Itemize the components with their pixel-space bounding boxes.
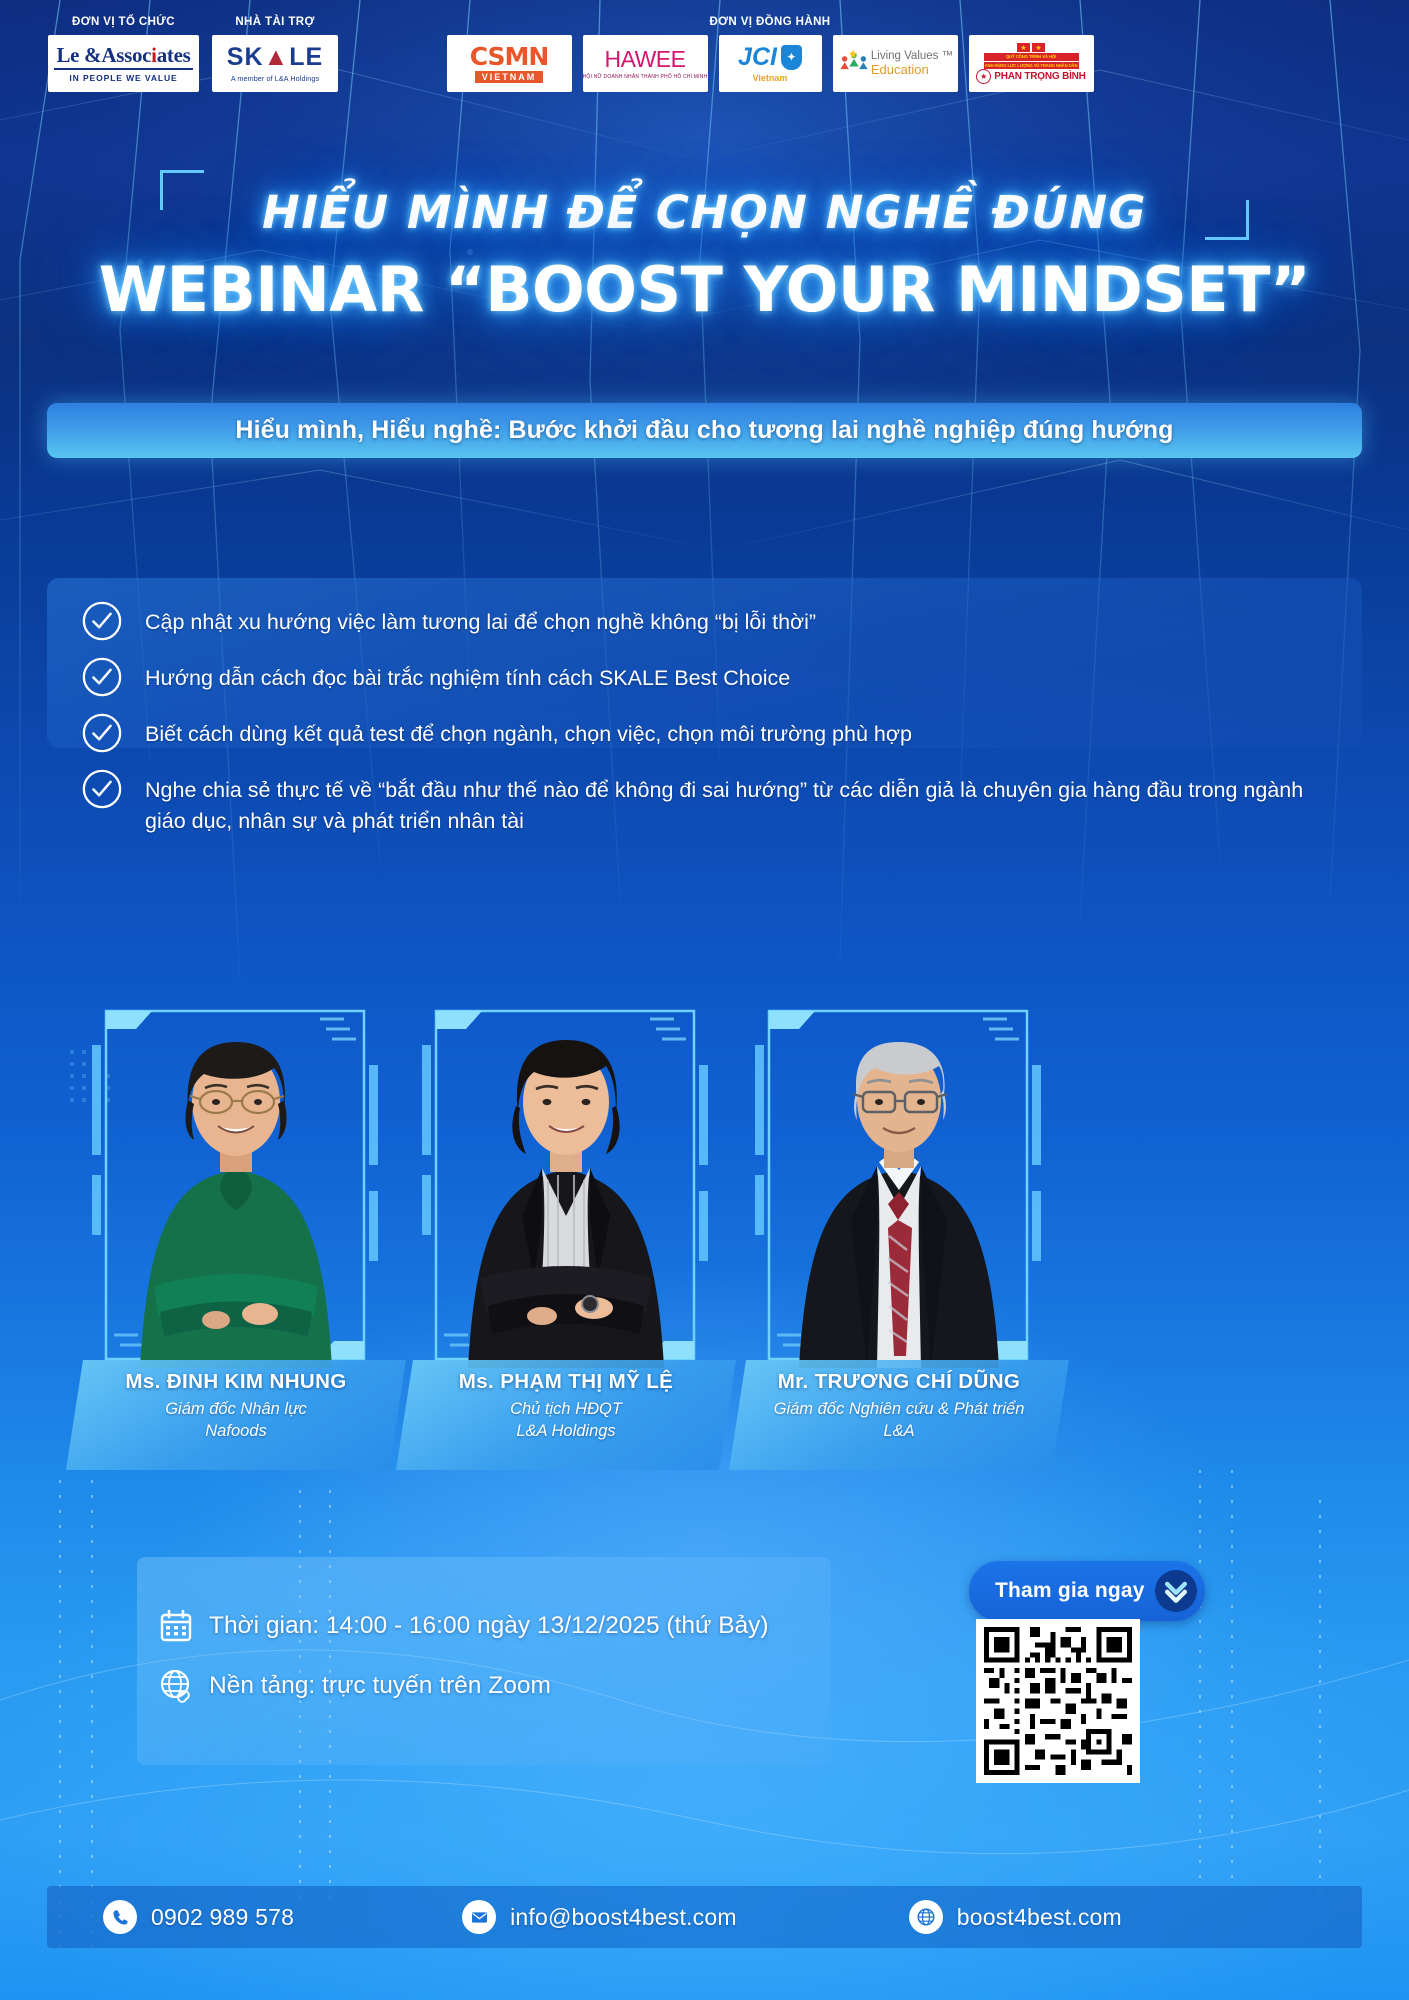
logo-csmo-sub: VIETNAM xyxy=(475,71,544,83)
logo-hawee-sub: HỘI NỮ DOANH NHÂN THÀNH PHỐ HỒ CHÍ MINH xyxy=(583,74,708,80)
speaker-card: Ms. ĐINH KIM NHUNG Giám đốc Nhân lực Naf… xyxy=(70,1005,400,1485)
phone-icon xyxy=(103,1900,137,1934)
join-now-button[interactable]: Tham gia ngay xyxy=(969,1561,1205,1621)
event-time-text: Thời gian: 14:00 - 16:00 ngày 13/12/2025… xyxy=(209,1612,769,1640)
speaker-photo xyxy=(771,1013,1027,1368)
logo-le-associates: Le &Associates IN PEOPLE WE VALUE xyxy=(48,35,199,92)
list-item: Nghe chia sẻ thực tế về “bắt đầu như thế… xyxy=(81,772,1332,836)
speaker-name: Mr. TRƯƠNG CHÍ DŨNG xyxy=(739,1370,1059,1394)
logo-group-organizer: ĐƠN VỊ TỔ CHỨC Le &Associates IN PEOPLE … xyxy=(48,16,199,92)
logo-jci-sub: Vietnam xyxy=(753,73,788,83)
subtitle-banner: Hiểu mình, Hiểu nghề: Bước khởi đầu cho … xyxy=(47,403,1362,458)
speaker-org: L&A Holdings xyxy=(406,1420,726,1442)
list-item-text: Nghe chia sẻ thực tế về “bắt đầu như thế… xyxy=(145,772,1332,836)
people-figures-icon xyxy=(837,47,871,81)
speaker-nameplate: Ms. ĐINH KIM NHUNG Giám đốc Nhân lực Naf… xyxy=(66,1360,406,1470)
corner-bracket-right-icon xyxy=(1205,200,1249,240)
logo-lve-line2: Education xyxy=(871,63,953,77)
globe-icon xyxy=(159,1669,193,1703)
event-platform-row: Nền tảng: trực tuyến trên Zoom xyxy=(159,1669,831,1703)
event-time-row: Thời gian: 14:00 - 16:00 ngày 13/12/2025… xyxy=(159,1609,831,1643)
hero-section: HIỂU MÌNH ĐỂ CHỌN NGHỀ ĐÚNG WEBINAR “BOO… xyxy=(0,158,1409,326)
contact-website[interactable]: boost4best.com xyxy=(909,1900,1122,1934)
list-item: Cập nhật xu hướng việc làm tương lai để … xyxy=(81,604,1332,642)
logo-ptb-line3: PHAN TRỌNG BÌNH xyxy=(994,71,1085,82)
speaker-org: Nafoods xyxy=(76,1420,396,1442)
logo-skale-tagline: A member of L&A Holdings xyxy=(231,74,319,83)
jci-shield-icon: ✦ xyxy=(781,45,802,70)
qr-code[interactable] xyxy=(976,1619,1140,1783)
speaker-nameplate: Ms. PHẠM THỊ MỸ LỆ Chủ tịch HĐQT L&A Hol… xyxy=(396,1360,736,1470)
logo-ptb-line1: QUỸ CÔNG TRÌNH XÃ HỘI xyxy=(984,53,1079,60)
seal-icon: ★ xyxy=(976,69,991,84)
qr-code-image xyxy=(984,1627,1132,1775)
logo-le-associates-tagline: IN PEOPLE WE VALUE xyxy=(69,73,177,83)
contact-phone[interactable]: 0902 989 578 xyxy=(103,1900,294,1934)
speaker-card: Ms. PHẠM THỊ MỸ LỆ Chủ tịch HĐQT L&A Hol… xyxy=(400,1005,730,1485)
double-chevron-down-icon xyxy=(1155,1570,1197,1612)
logo-lve-line1: Living Values ™ xyxy=(871,50,953,63)
event-info-panel: Thời gian: 14:00 - 16:00 ngày 13/12/2025… xyxy=(137,1557,831,1765)
logo-hawee-word: HAWEE xyxy=(605,48,686,71)
check-circle-icon xyxy=(81,656,123,698)
list-item: Biết cách dùng kết quả test để chọn ngàn… xyxy=(81,716,1332,754)
calendar-icon xyxy=(159,1609,193,1643)
speaker-nameplate: Mr. TRƯƠNG CHÍ DŨNG Giám đốc Nghiên cứu … xyxy=(729,1360,1069,1470)
speaker-role: Chủ tịch HĐQT xyxy=(406,1398,726,1420)
email-icon xyxy=(462,1900,496,1934)
list-item-text: Cập nhật xu hướng việc làm tương lai để … xyxy=(145,604,816,638)
logo-jci-word: JCI xyxy=(738,45,777,70)
contact-email-text: info@boost4best.com xyxy=(510,1904,737,1931)
logo-jci-vietnam: JCI ✦ Vietnam xyxy=(719,35,822,92)
partner-logo-header: ĐƠN VỊ TỔ CHỨC Le &Associates IN PEOPLE … xyxy=(0,0,1409,125)
page-title-primary: HIỂU MÌNH ĐỂ CHỌN NGHỀ ĐÚNG xyxy=(0,186,1409,239)
logo-group-caption: NHÀ TÀI TRỢ xyxy=(212,16,338,28)
highlights-panel: Cập nhật xu hướng việc làm tương lai để … xyxy=(47,578,1362,748)
speaker-role: Giám đốc Nghiên cứu & Phát triển xyxy=(739,1398,1059,1420)
speaker-name: Ms. PHẠM THỊ MỸ LỆ xyxy=(406,1370,726,1394)
logo-group-caption: ĐƠN VỊ ĐỒNG HÀNH xyxy=(420,16,1120,28)
logo-group-sponsor: NHÀ TÀI TRỢ SK▲LE A member of L&A Holdin… xyxy=(212,16,338,92)
speaker-role: Giám đốc Nhân lực xyxy=(76,1398,396,1420)
speaker-org: L&A xyxy=(739,1420,1059,1442)
speaker-photo xyxy=(108,1013,364,1368)
corner-bracket-left-icon xyxy=(160,170,204,210)
event-platform-text: Nền tảng: trực tuyến trên Zoom xyxy=(209,1672,551,1700)
contact-email[interactable]: info@boost4best.com xyxy=(462,1900,737,1934)
logo-group-companions: ĐƠN VỊ ĐỒNG HÀNH CSMN VIETNAM HAWEE HỘI … xyxy=(420,16,1120,92)
page-title-secondary: WEBINAR “BOOST YOUR MINDSET” xyxy=(0,253,1409,326)
list-item-text: Biết cách dùng kết quả test để chọn ngàn… xyxy=(145,716,912,750)
check-circle-icon xyxy=(81,600,123,642)
contact-phone-text: 0902 989 578 xyxy=(151,1904,294,1931)
contact-footer: 0902 989 578 info@boost4best.com boost4b… xyxy=(47,1886,1362,1948)
speaker-photo xyxy=(438,1013,694,1368)
logo-skale: SK▲LE A member of L&A Holdings xyxy=(212,35,338,92)
speaker-name: Ms. ĐINH KIM NHUNG xyxy=(76,1370,396,1394)
check-circle-icon xyxy=(81,768,123,810)
globe-icon xyxy=(909,1900,943,1934)
list-item: Hướng dẫn cách đọc bài trắc nghiệm tính … xyxy=(81,660,1332,698)
list-item-text: Hướng dẫn cách đọc bài trắc nghiệm tính … xyxy=(145,660,790,694)
speaker-card: Mr. TRƯƠNG CHÍ DŨNG Giám đốc Nghiên cứu … xyxy=(733,1005,1063,1485)
speakers-section: Ms. ĐINH KIM NHUNG Giám đốc Nhân lực Naf… xyxy=(0,1005,1409,1485)
subtitle-text: Hiểu mình, Hiểu nghề: Bước khởi đầu cho … xyxy=(235,416,1173,445)
logo-hawee: HAWEE HỘI NỮ DOANH NHÂN THÀNH PHỐ HỒ CHÍ… xyxy=(583,35,708,92)
logo-csmo-vietnam: CSMN VIETNAM xyxy=(447,35,572,92)
logo-living-values-education: Living Values ™ Education xyxy=(833,35,958,92)
contact-website-text: boost4best.com xyxy=(957,1904,1122,1931)
logo-ptb-line2: ANH HÙNG LỰC LƯỢNG VŨ TRANG NHÂN DÂN xyxy=(984,62,1079,69)
logo-group-caption: ĐƠN VỊ TỔ CHỨC xyxy=(48,16,199,28)
join-now-label: Tham gia ngay xyxy=(995,1579,1145,1603)
vietnam-flags-icon: ★★ xyxy=(1017,43,1045,52)
check-circle-icon xyxy=(81,712,123,754)
logo-phan-trong-binh: ★★ QUỸ CÔNG TRÌNH XÃ HỘI ANH HÙNG LỰC LƯ… xyxy=(969,35,1094,92)
